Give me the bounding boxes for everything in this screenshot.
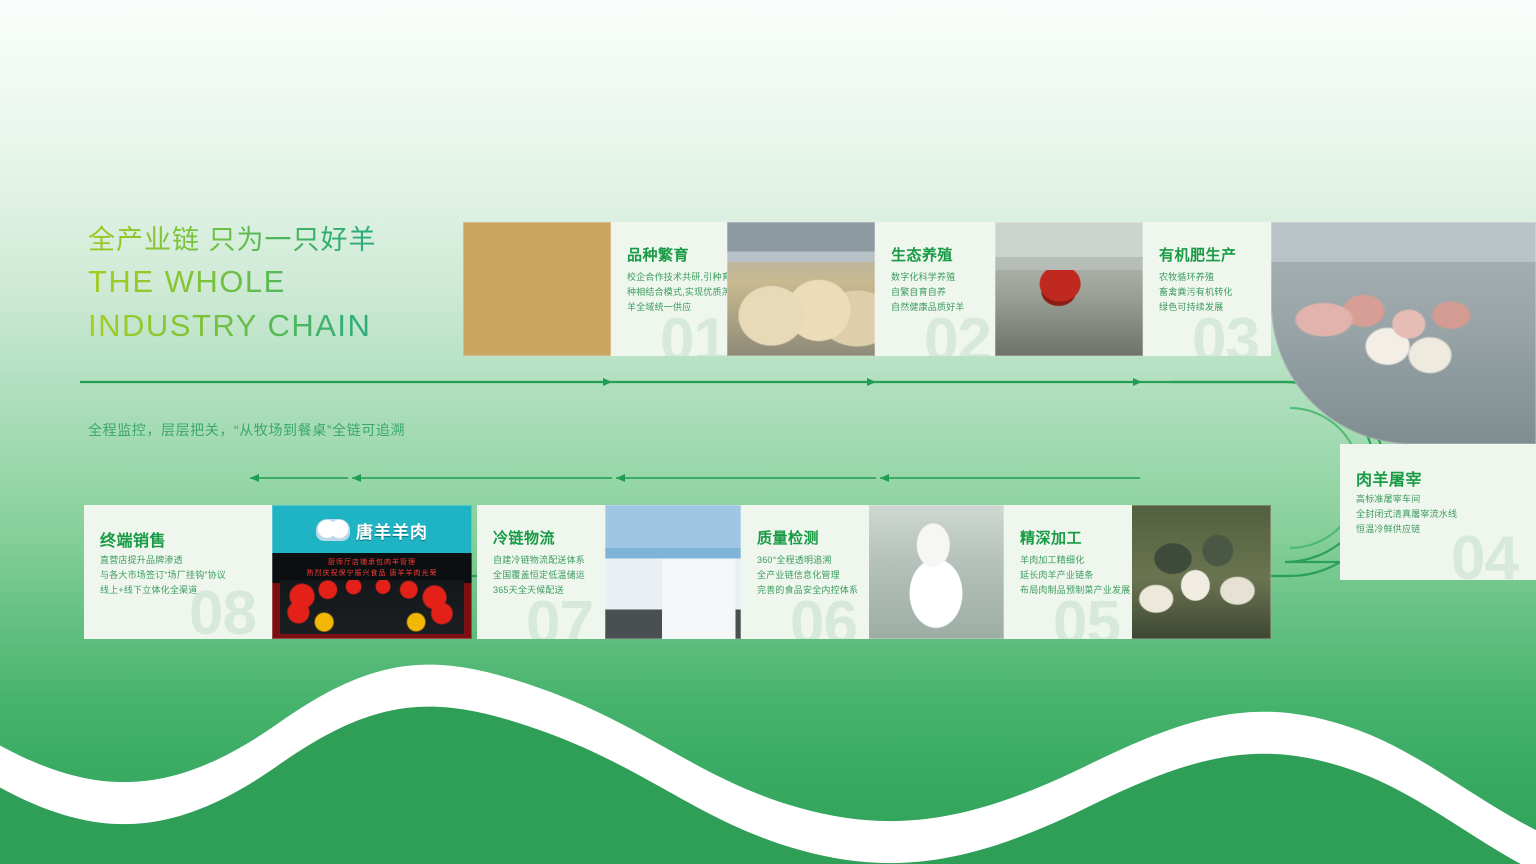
step-2-desc-line-2: 自繁自育自养 (891, 285, 965, 300)
step-card-2[interactable]: 生态养殖 数字化科学养殖 自繁自育自养 自然健康品质好羊 02 (875, 222, 1003, 356)
photo-border (1271, 222, 1536, 444)
step-7-title: 冷链物流 (493, 527, 555, 548)
step-8-desc-line-1: 直营店提升品牌渗透 (100, 553, 226, 568)
step-2-photo (727, 222, 875, 356)
step-6-photo (868, 505, 1004, 639)
step-7-number: 07 (526, 593, 593, 639)
headline-chinese: 全产业链 只为一只好羊 (88, 222, 508, 258)
step-5-desc-line-2: 延长肉羊产业链条 (1020, 568, 1130, 583)
photo-border (1131, 505, 1271, 639)
headline-english-line1: THE WHOLE (88, 262, 508, 302)
step-6-desc-line-1: 360°全程透明追溯 (757, 553, 858, 568)
photo-border (995, 222, 1143, 356)
step-8-title: 终端销售 (100, 527, 166, 551)
step-5-photo (1131, 505, 1271, 639)
step-4-desc-line-2: 全封闭式清真屠宰流水线 (1356, 507, 1457, 522)
headline-english-line2: INDUSTRY CHAIN (88, 306, 508, 346)
photo-border (605, 505, 741, 639)
decorative-wave (0, 604, 1536, 864)
photo-border (727, 222, 875, 356)
step-4-desc-line-3: 恒温冷鲜供应链 (1356, 522, 1457, 537)
step-card-5[interactable]: 精深加工 羊肉加工精细化 延长肉羊产业链条 布局肉制品预制菜产业发展 05 (1004, 505, 1132, 639)
infographic-canvas: 全产业链 只为一只好羊 THE WHOLE INDUSTRY CHAIN 全程监… (0, 0, 1536, 864)
step-1-number: 01 (660, 310, 727, 356)
step-8-number: 08 (189, 583, 256, 639)
step-4-desc-line-1: 高标准屠宰车间 (1356, 492, 1457, 507)
step-7-photo (605, 505, 741, 639)
step-3-number: 03 (1192, 310, 1259, 356)
step-3-desc-line-1: 农牧循环养殖 (1159, 270, 1233, 285)
step-1-desc-line-1: 校企合作技术共研,引种育 (627, 270, 731, 285)
step-4-number: 04 (1451, 528, 1518, 580)
step-card-3[interactable]: 有机肥生产 农牧循环养殖 畜禽粪污有机转化 绿色可持续发展 03 (1143, 222, 1271, 356)
step-3-title: 有机肥生产 (1159, 244, 1237, 265)
step-3-photo (995, 222, 1143, 356)
step-8-photo: 唐羊羊肉 厨师厅店铺承包肉羊管理 热烈庆祝保宁振兴食品 唐羊羊肉光荣 (272, 505, 472, 639)
headline-block: 全产业链 只为一只好羊 THE WHOLE INDUSTRY CHAIN (88, 222, 508, 346)
step-card-8[interactable]: 终端销售 直营店提升品牌渗透 与各大市场签订“场厂挂钩”协议 线上+线下立体化全… (84, 505, 272, 639)
step-1-photo (463, 222, 611, 356)
step-4-desc: 高标准屠宰车间 全封闭式清真屠宰流水线 恒温冷鲜供应链 (1356, 492, 1457, 537)
step-1-desc-line-2: 种相结合模式,实现优质羔 (627, 285, 731, 300)
step-2-title: 生态养殖 (891, 244, 953, 265)
step-3-desc-line-2: 畜禽粪污有机转化 (1159, 285, 1233, 300)
photo-border (272, 505, 472, 639)
step-7-desc-line-2: 全国覆盖恒定低温储运 (493, 568, 585, 583)
step-6-desc-line-2: 全产业链信息化管理 (757, 568, 858, 583)
step-card-7[interactable]: 冷链物流 自建冷链物流配送体系 全国覆盖恒定低温储运 365天全天候配送 07 (477, 505, 605, 639)
step-2-number: 02 (924, 310, 991, 356)
step-2-desc-line-1: 数字化科学养殖 (891, 270, 965, 285)
step-card-4[interactable]: 肉羊屠宰 高标准屠宰车间 全封闭式清真屠宰流水线 恒温冷鲜供应链 04 (1340, 444, 1536, 580)
step-6-number: 06 (790, 593, 857, 639)
step-card-1[interactable]: 品种繁育 校企合作技术共研,引种育 种相结合模式,实现优质羔 羊全域统一供应 0… (611, 222, 739, 356)
step-4-title: 肉羊屠宰 (1356, 466, 1422, 490)
photo-border (868, 505, 1004, 639)
step-7-desc-line-1: 自建冷链物流配送体系 (493, 553, 585, 568)
step-1-title: 品种繁育 (627, 244, 689, 265)
step-card-6[interactable]: 质量检测 360°全程透明追溯 全产业链信息化管理 完善的食品安全内控体系 06 (741, 505, 869, 639)
subtitle-text: 全程监控，层层把关，“从牧场到餐桌”全链可追溯 (88, 420, 405, 440)
step-5-desc-line-1: 羊肉加工精细化 (1020, 553, 1130, 568)
step-5-number: 05 (1053, 593, 1120, 639)
photo-border (463, 222, 611, 356)
step-5-title: 精深加工 (1020, 527, 1082, 548)
step-4-photo (1271, 222, 1536, 444)
step-6-title: 质量检测 (757, 527, 819, 548)
